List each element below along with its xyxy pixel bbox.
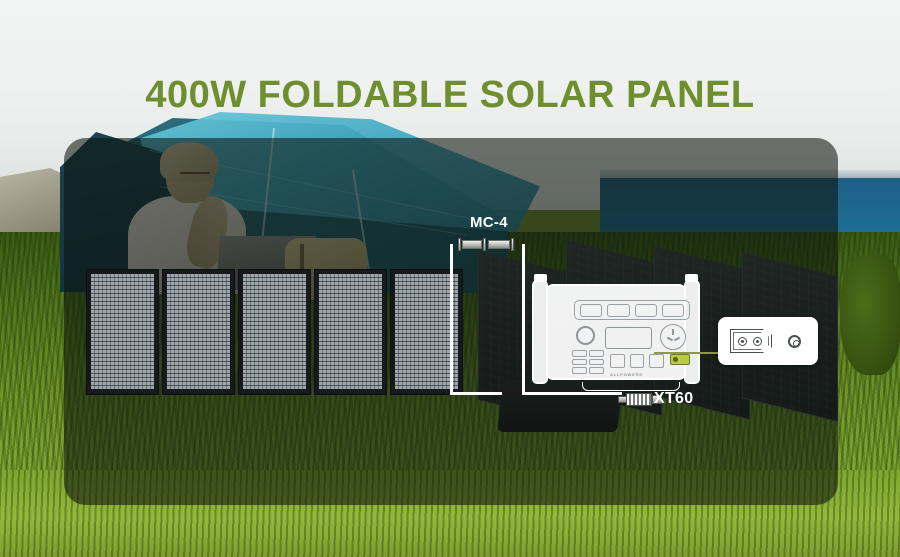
station-top-button[interactable] (662, 304, 684, 317)
ac-outlet-icon[interactable] (660, 324, 686, 350)
station-keypad[interactable] (572, 350, 604, 374)
panel-segment (238, 269, 311, 395)
page-title: 400W FOLDABLE SOLAR PANEL (0, 74, 900, 117)
callout-leader-line (654, 352, 720, 354)
solar-cells (243, 274, 306, 389)
station-brand-label: ALLPOWERS (610, 372, 643, 377)
station-front-ports (610, 354, 664, 368)
cable-from-panel (450, 244, 453, 394)
station-lcd-display (605, 327, 652, 349)
station-top-button-row (574, 300, 690, 320)
station-xt60-port[interactable] (670, 354, 690, 365)
mc4-connector-icon (458, 238, 520, 251)
station-top-button[interactable] (607, 304, 629, 317)
cable-bottom-left (450, 392, 502, 395)
station-top-button[interactable] (580, 304, 602, 317)
foldable-solar-panel-array (86, 269, 463, 395)
solar-cells (319, 274, 382, 389)
mc4-label: MC-4 (470, 214, 508, 231)
dc-round-port-icon (788, 335, 801, 348)
xt60-label: XT60 (654, 390, 693, 408)
solar-cells (167, 274, 230, 389)
cable-to-station (522, 244, 525, 394)
solar-cells (395, 274, 458, 389)
station-port[interactable] (610, 354, 625, 368)
product-banner: 400W FOLDABLE SOLAR PANEL MC-4 (0, 0, 900, 557)
station-key[interactable] (589, 367, 604, 374)
panel-segment (314, 269, 387, 395)
station-key[interactable] (572, 359, 587, 366)
station-key[interactable] (589, 359, 604, 366)
cable-bottom-right (522, 392, 622, 395)
station-key[interactable] (589, 350, 604, 357)
xt60-pin-icon (738, 337, 747, 346)
station-key[interactable] (572, 350, 587, 357)
station-dial-knob[interactable] (576, 326, 595, 345)
bush (840, 255, 900, 375)
portable-power-station: ALLPOWERS (532, 278, 700, 388)
panel-segment (162, 269, 235, 395)
xt60-port-detail-callout (718, 317, 818, 365)
station-port[interactable] (630, 354, 645, 368)
station-body: ALLPOWERS (546, 284, 686, 380)
station-port[interactable] (649, 354, 664, 368)
station-top-button[interactable] (635, 304, 657, 317)
xt60-pin-icon (753, 337, 762, 346)
station-handle-right (684, 280, 700, 384)
panel-segment (86, 269, 159, 395)
station-key[interactable] (572, 367, 587, 374)
solar-cells (91, 274, 154, 389)
